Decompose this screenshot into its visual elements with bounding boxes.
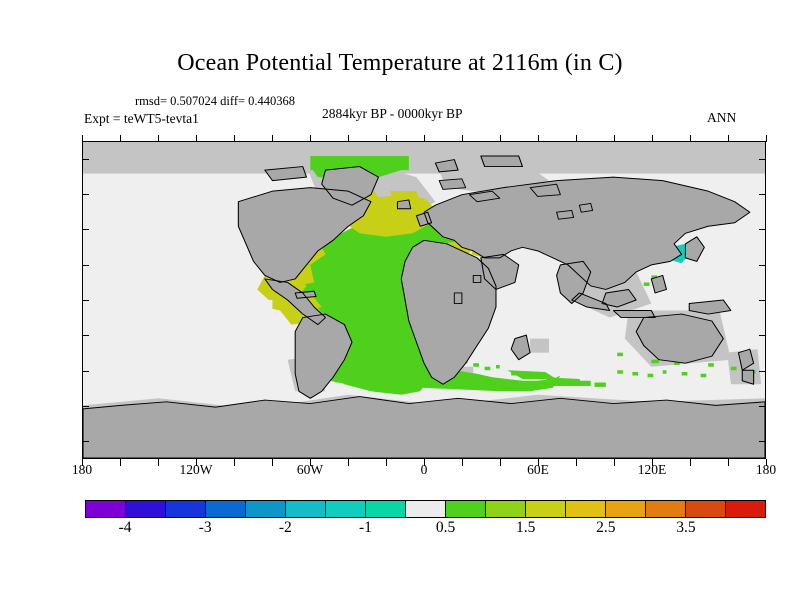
y-axis-tick bbox=[82, 265, 89, 266]
colorbar-tick-label: 2.5 bbox=[596, 519, 615, 537]
map-region bbox=[572, 381, 591, 386]
x-axis-tick bbox=[500, 459, 501, 466]
x-axis-tick bbox=[690, 135, 691, 142]
map-region bbox=[526, 375, 532, 379]
x-axis-tick bbox=[234, 135, 235, 142]
y-axis-tick bbox=[82, 229, 89, 230]
map-region bbox=[708, 363, 714, 367]
colorbar-swatch bbox=[406, 501, 446, 517]
x-axis-tick bbox=[462, 135, 463, 142]
x-axis-tick bbox=[538, 459, 539, 466]
colorbar-swatch bbox=[686, 501, 726, 517]
x-axis-tick bbox=[652, 459, 653, 466]
y-axis-tick bbox=[759, 335, 766, 336]
colorbar-swatch bbox=[206, 501, 246, 517]
x-axis-tick bbox=[500, 135, 501, 142]
map-region bbox=[557, 210, 574, 219]
map-region bbox=[83, 397, 765, 458]
colorbar-swatch bbox=[86, 501, 126, 517]
period-label: 2884kyr BP - 0000kyr BP bbox=[322, 106, 463, 122]
y-axis-tick bbox=[82, 194, 89, 195]
x-axis-tick bbox=[424, 459, 425, 466]
map-region bbox=[485, 367, 491, 371]
map-region bbox=[617, 370, 623, 374]
map-region bbox=[651, 360, 659, 364]
map-region bbox=[617, 353, 623, 357]
rmsd-annotation: rmsd= 0.507024 diff= 0.440368 bbox=[135, 94, 295, 109]
colorbar-tick-label: -4 bbox=[119, 519, 132, 537]
y-axis-tick bbox=[759, 229, 766, 230]
y-axis-tick bbox=[759, 300, 766, 301]
map-region bbox=[496, 365, 500, 369]
colorbar-swatch bbox=[646, 501, 686, 517]
colorbar-swatch bbox=[606, 501, 646, 517]
map-region bbox=[682, 372, 688, 376]
x-axis-tick bbox=[728, 135, 729, 142]
map-region bbox=[481, 156, 523, 167]
colorbar-swatch bbox=[246, 501, 286, 517]
experiment-label: Expt = teWT5-tevta1 bbox=[84, 111, 199, 127]
x-axis-tick bbox=[120, 135, 121, 142]
y-axis-tick bbox=[759, 159, 766, 160]
y-axis-tick bbox=[82, 371, 89, 372]
colorbar-tick-label: 3.5 bbox=[676, 519, 695, 537]
x-axis-tick bbox=[462, 459, 463, 466]
map-region bbox=[473, 275, 481, 282]
colorbar-swatch bbox=[126, 501, 166, 517]
colorbar-tick-label: -1 bbox=[359, 519, 372, 537]
y-axis-tick bbox=[759, 406, 766, 407]
x-axis-tick bbox=[424, 135, 425, 142]
colorbar-tick-label: -3 bbox=[199, 519, 212, 537]
colorbar-swatch bbox=[566, 501, 606, 517]
season-label: ANN bbox=[707, 110, 736, 126]
map-region bbox=[530, 339, 549, 353]
x-axis-tick bbox=[576, 459, 577, 466]
y-axis-tick bbox=[759, 265, 766, 266]
x-axis-tick bbox=[196, 459, 197, 466]
y-axis-tick bbox=[759, 194, 766, 195]
x-axis-tick bbox=[690, 459, 691, 466]
x-axis-tick bbox=[576, 135, 577, 142]
y-axis-tick bbox=[82, 300, 89, 301]
colorbar bbox=[85, 500, 766, 518]
map-region bbox=[595, 383, 606, 387]
y-axis-tick bbox=[82, 406, 89, 407]
map-region bbox=[632, 372, 638, 376]
x-axis-tick bbox=[538, 135, 539, 142]
map-region bbox=[439, 179, 466, 190]
x-axis-tick bbox=[272, 135, 273, 142]
page-title: Ocean Potential Temperature at 2116m (in… bbox=[0, 50, 800, 77]
x-axis-tick bbox=[728, 459, 729, 466]
x-axis-tick bbox=[196, 135, 197, 142]
x-axis-tick bbox=[120, 459, 121, 466]
colorbar-tick-label: 1.5 bbox=[516, 519, 535, 537]
x-axis-tick bbox=[158, 459, 159, 466]
x-axis-tick bbox=[386, 135, 387, 142]
x-axis-tick bbox=[766, 459, 767, 466]
x-axis-tick bbox=[310, 459, 311, 466]
map-region bbox=[511, 372, 517, 376]
colorbar-swatch bbox=[726, 501, 765, 517]
colorbar-tick-label: -2 bbox=[279, 519, 292, 537]
x-axis-tick bbox=[82, 135, 83, 142]
y-axis-tick bbox=[82, 159, 89, 160]
map-region bbox=[473, 363, 479, 367]
colorbar-swatch bbox=[486, 501, 526, 517]
colorbar-swatch bbox=[446, 501, 486, 517]
x-axis-tick bbox=[386, 459, 387, 466]
x-axis-tick bbox=[614, 459, 615, 466]
y-axis-tick bbox=[759, 371, 766, 372]
map-region bbox=[701, 374, 707, 378]
colorbar-swatch bbox=[326, 501, 366, 517]
x-axis-tick bbox=[158, 135, 159, 142]
x-axis-tick bbox=[348, 459, 349, 466]
colorbar-swatch bbox=[366, 501, 406, 517]
x-axis-tick bbox=[766, 135, 767, 142]
map-region bbox=[648, 374, 654, 378]
y-axis-tick bbox=[82, 441, 89, 442]
x-axis-tick bbox=[82, 459, 83, 466]
x-axis-tick bbox=[234, 459, 235, 466]
x-axis-tick bbox=[310, 135, 311, 142]
x-axis-tick bbox=[348, 135, 349, 142]
y-axis-tick bbox=[82, 335, 89, 336]
colorbar-swatch bbox=[526, 501, 566, 517]
map-region bbox=[663, 370, 667, 374]
world-anomaly-map bbox=[83, 142, 765, 458]
map-region bbox=[454, 293, 462, 304]
map-region bbox=[83, 142, 765, 174]
colorbar-swatch bbox=[286, 501, 326, 517]
map-plot-area bbox=[82, 141, 766, 459]
x-axis-tick bbox=[614, 135, 615, 142]
map-region bbox=[644, 282, 650, 286]
map-region bbox=[731, 367, 737, 371]
colorbar-swatch bbox=[166, 501, 206, 517]
y-axis-tick bbox=[759, 441, 766, 442]
x-axis-tick bbox=[272, 459, 273, 466]
colorbar-tick-label: 0.5 bbox=[436, 519, 455, 537]
climate-anomaly-figure: Ocean Potential Temperature at 2116m (in… bbox=[0, 0, 800, 600]
x-axis-tick bbox=[652, 135, 653, 142]
map-region bbox=[579, 203, 592, 212]
